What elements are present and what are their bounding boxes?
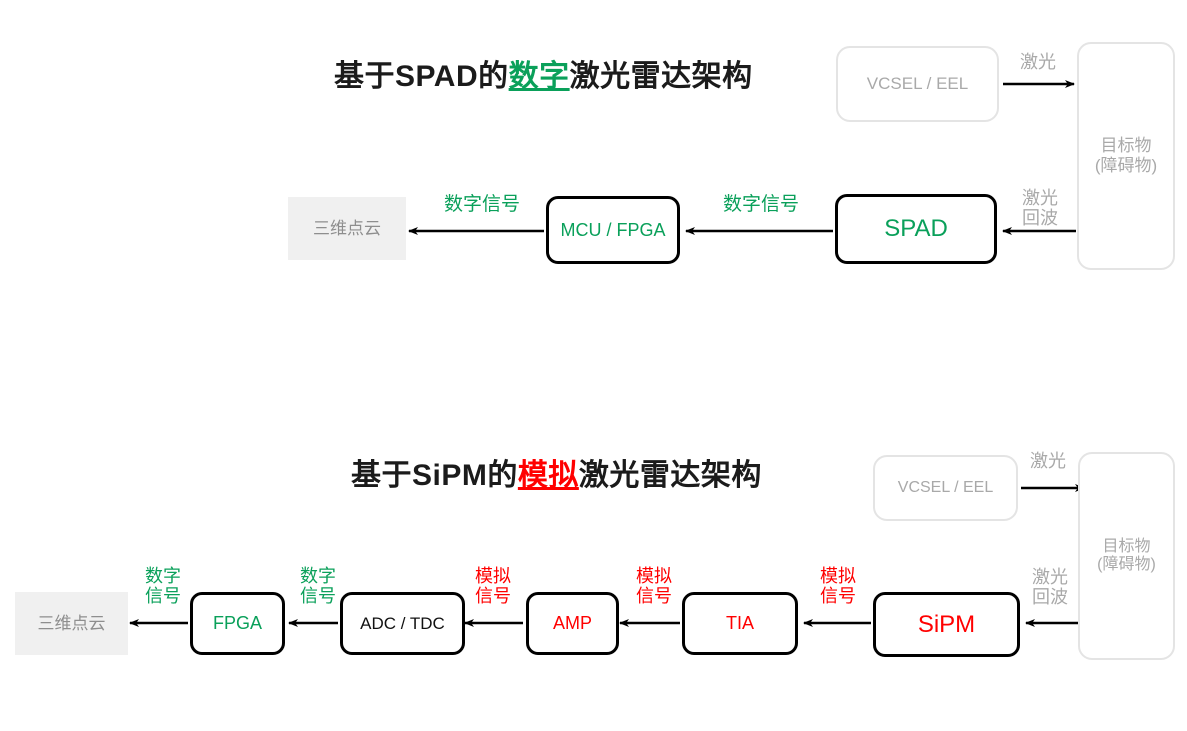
edge-label-fpga-to-cloud-line2: 信号 bbox=[137, 586, 189, 606]
edge-label-tia-to-amp-line1: 模拟 bbox=[628, 566, 680, 586]
edge-label-sipm-to-tia-line1: 模拟 bbox=[812, 566, 864, 586]
title-sipm-highlight: 模拟 bbox=[518, 459, 579, 492]
edge-label-amp-to-adc-line2: 信号 bbox=[467, 586, 519, 606]
node-fpga-label: FPGA bbox=[213, 613, 262, 634]
edge-label-laser-emit-bottom-text: 激光 bbox=[1030, 451, 1066, 471]
edge-label-mcu-to-cloud: 数字信号 bbox=[415, 194, 549, 215]
node-vcsel-eel-top[interactable]: VCSEL / EEL bbox=[836, 46, 999, 122]
edge-label-spad-to-mcu: 数字信号 bbox=[694, 194, 828, 215]
diagram-canvas: 基于SPAD的数字激光雷达架构 VCSEL / EEL 激光 目标物 (障碍物)… bbox=[0, 0, 1187, 731]
edge-label-laser-echo-bottom-line1: 激光 bbox=[1024, 567, 1076, 587]
node-point-cloud-bottom-label: 三维点云 bbox=[38, 614, 106, 634]
node-amp[interactable]: AMP bbox=[526, 592, 619, 655]
node-mcu-fpga-label: MCU / FPGA bbox=[560, 220, 665, 241]
title-spad-digital: 基于SPAD的数字激光雷达架构 bbox=[334, 51, 753, 95]
edge-label-sipm-to-tia: 模拟 信号 bbox=[812, 566, 864, 606]
node-target-top-label-line2: (障碍物) bbox=[1095, 156, 1157, 176]
edge-label-amp-to-adc-line1: 模拟 bbox=[467, 566, 519, 586]
node-vcsel-eel-bottom-label: VCSEL / EEL bbox=[898, 479, 993, 497]
title-spad-suffix: 激光雷达架构 bbox=[570, 60, 753, 93]
node-mcu-fpga[interactable]: MCU / FPGA bbox=[546, 196, 680, 264]
edge-label-sipm-to-tia-line2: 信号 bbox=[812, 586, 864, 606]
node-point-cloud-top[interactable]: 三维点云 bbox=[288, 197, 406, 260]
edge-label-adc-to-fpga-line1: 数字 bbox=[292, 566, 344, 586]
edge-label-fpga-to-cloud: 数字 信号 bbox=[137, 566, 189, 606]
node-sipm[interactable]: SiPM bbox=[873, 592, 1020, 657]
node-target-top[interactable]: 目标物 (障碍物) bbox=[1077, 42, 1175, 270]
node-target-top-label-line1: 目标物 bbox=[1101, 136, 1152, 156]
edge-label-adc-to-fpga: 数字 信号 bbox=[292, 566, 344, 606]
edge-label-laser-echo-bottom-line2: 回波 bbox=[1024, 587, 1076, 607]
edge-label-spad-to-mcu-text: 数字信号 bbox=[723, 194, 799, 215]
node-target-bottom[interactable]: 目标物 (障碍物) bbox=[1078, 452, 1175, 660]
node-spad-label: SPAD bbox=[884, 215, 948, 243]
title-spad-prefix: 基于SPAD的 bbox=[334, 60, 509, 93]
node-fpga[interactable]: FPGA bbox=[190, 592, 285, 655]
node-sipm-label: SiPM bbox=[918, 611, 975, 639]
edge-label-mcu-to-cloud-text: 数字信号 bbox=[444, 194, 520, 215]
node-spad[interactable]: SPAD bbox=[835, 194, 997, 264]
title-sipm-analog: 基于SiPM的模拟激光雷达架构 bbox=[351, 450, 762, 494]
node-point-cloud-bottom[interactable]: 三维点云 bbox=[15, 592, 128, 655]
edge-label-tia-to-amp-line2: 信号 bbox=[628, 586, 680, 606]
edge-label-laser-emit-bottom: 激光 bbox=[1022, 451, 1074, 471]
node-vcsel-eel-bottom[interactable]: VCSEL / EEL bbox=[873, 455, 1018, 521]
title-sipm-suffix: 激光雷达架构 bbox=[579, 459, 762, 492]
edge-label-amp-to-adc: 模拟 信号 bbox=[467, 566, 519, 606]
node-vcsel-eel-top-label: VCSEL / EEL bbox=[867, 74, 968, 94]
edge-label-laser-emit-top-text: 激光 bbox=[1020, 52, 1056, 72]
edge-label-laser-echo-top: 激光 回波 bbox=[1014, 188, 1066, 228]
node-point-cloud-top-label: 三维点云 bbox=[313, 219, 381, 239]
title-spad-highlight: 数字 bbox=[509, 60, 570, 93]
title-sipm-prefix: 基于SiPM的 bbox=[351, 459, 518, 492]
edge-label-adc-to-fpga-line2: 信号 bbox=[292, 586, 344, 606]
edge-label-tia-to-amp: 模拟 信号 bbox=[628, 566, 680, 606]
edge-label-laser-echo-bottom: 激光 回波 bbox=[1024, 567, 1076, 607]
edge-label-laser-echo-top-line2: 回波 bbox=[1014, 208, 1066, 228]
node-adc-tdc-label: ADC / TDC bbox=[360, 614, 445, 634]
edge-label-laser-emit-top: 激光 bbox=[1012, 52, 1064, 72]
node-target-bottom-label-line1: 目标物 bbox=[1102, 538, 1150, 556]
node-target-bottom-label-line2: (障碍物) bbox=[1097, 556, 1156, 574]
node-adc-tdc[interactable]: ADC / TDC bbox=[340, 592, 465, 655]
node-amp-label: AMP bbox=[553, 613, 592, 634]
edge-label-fpga-to-cloud-line1: 数字 bbox=[137, 566, 189, 586]
edge-label-laser-echo-top-line1: 激光 bbox=[1014, 188, 1066, 208]
node-tia-label: TIA bbox=[726, 613, 754, 634]
node-tia[interactable]: TIA bbox=[682, 592, 798, 655]
